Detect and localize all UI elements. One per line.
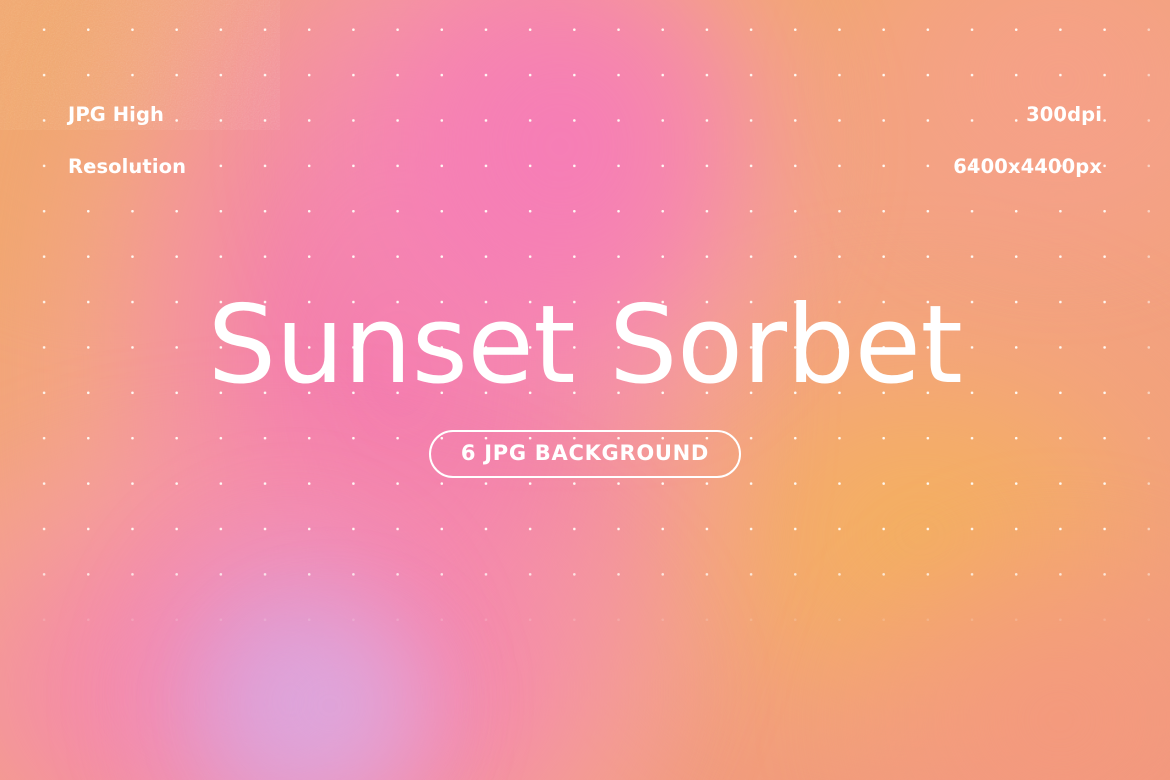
gradient-background-poster: JPG High Resolution 300dpi 6400x4400px S…: [0, 0, 1170, 780]
format-label-line-1: JPG High: [68, 102, 186, 128]
poster-center-block: Sunset Sorbet 6 JPG BACKGROUND: [0, 292, 1170, 478]
lilac-gradient-bloom-secondary: [120, 540, 540, 780]
format-resolution-label: JPG High Resolution: [68, 76, 186, 206]
dpi-label: 300dpi: [953, 102, 1102, 128]
page-title: Sunset Sorbet: [208, 292, 963, 400]
lilac-gradient-bloom: [30, 430, 550, 780]
status-badge: 6 JPG BACKGROUND: [429, 430, 741, 478]
pixel-dimensions-label: 6400x4400px: [953, 154, 1102, 180]
dpi-dimensions-label: 300dpi 6400x4400px: [953, 76, 1102, 206]
format-label-line-2: Resolution: [68, 154, 186, 180]
